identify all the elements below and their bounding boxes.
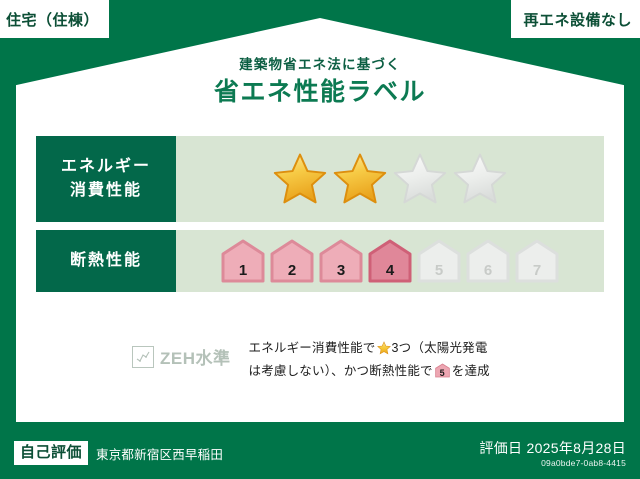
insulation-grade-number: 4 — [367, 263, 413, 279]
zeh-badge: ZEH水準 — [132, 344, 231, 369]
row-energy-label: エネルギー 消費性能 — [36, 136, 176, 222]
star-filled — [271, 151, 329, 207]
star-rating — [271, 151, 509, 207]
footer-left: 自己評価 東京都新宿区西早稲田 — [14, 441, 223, 465]
insulation-grade-scale: 1234567 — [220, 239, 560, 283]
zeh-description-line2: は考慮しない）、かつ断熱性能で 5 を達成 — [249, 361, 490, 381]
insulation-grade-number: 3 — [318, 263, 364, 279]
insulation-grade-4: 4 — [367, 239, 413, 283]
row-energy-value — [176, 136, 604, 222]
zeh-description-line1: エネルギー消費性能で 3つ（太陽光発電 — [249, 338, 490, 361]
insulation-grade-2: 2 — [269, 239, 315, 283]
star-filled — [331, 151, 389, 207]
zeh-desc-2a: は考慮しない）、かつ断熱性能で — [249, 364, 433, 378]
tag-building-type: 住宅（住棟） — [0, 0, 109, 38]
inline-grade-chip: 5 — [435, 363, 450, 378]
zeh-label: ZEH水準 — [160, 344, 231, 369]
row-energy-label-line1: エネルギー — [61, 155, 151, 179]
row-energy-consumption: エネルギー 消費性能 — [36, 136, 604, 222]
insulation-grade-7: 7 — [514, 239, 560, 283]
zeh-description: エネルギー消費性能で 3つ（太陽光発電 は考慮しない）、かつ断熱性能で — [249, 338, 490, 381]
zeh-desc-2b: を達成 — [452, 364, 490, 378]
row-energy-label-line2: 消費性能 — [70, 179, 142, 203]
insulation-grade-5: 5 — [416, 239, 462, 283]
insulation-grade-6: 6 — [465, 239, 511, 283]
zeh-section: ZEH水準 エネルギー消費性能で 3つ（太陽光発電 は考慮しない）、かつ断熱性能… — [132, 338, 490, 381]
insulation-grade-3: 3 — [318, 239, 364, 283]
tag-renewable-energy: 再エネ設備なし — [511, 0, 640, 38]
footer-right: 評価日 2025年8月28日 09a0bde7-0ab8-4415 — [479, 439, 626, 469]
evaluation-date: 評価日 2025年8月28日 — [479, 439, 626, 457]
insulation-grade-number: 6 — [465, 263, 511, 279]
row-insulation-label-line1: 断熱性能 — [70, 249, 142, 273]
energy-performance-label: 住宅（住棟） 再エネ設備なし 建築物省エネ法に基づく 省エネ性能ラベル エネルギ… — [0, 0, 640, 479]
star-empty — [391, 151, 449, 207]
row-insulation-value: 1234567 — [176, 230, 604, 292]
insulation-grade-1: 1 — [220, 239, 266, 283]
row-insulation-label: 断熱性能 — [36, 230, 176, 292]
row-insulation: 断熱性能 1234567 — [36, 230, 604, 292]
insulation-grade-number: 1 — [220, 263, 266, 279]
insulation-grade-number: 2 — [269, 263, 315, 279]
self-evaluation-badge: 自己評価 — [14, 441, 88, 465]
star-empty — [451, 151, 509, 207]
zeh-desc-1b: 3つ（太陽光発電 — [392, 341, 488, 355]
property-address: 東京都新宿区西早稲田 — [96, 444, 223, 463]
insulation-grade-number: 7 — [514, 263, 560, 279]
performance-rows: エネルギー 消費性能 断熱性能 1234567 — [36, 136, 604, 300]
inline-grade-chip-number: 5 — [435, 368, 450, 378]
label-id: 09a0bde7-0ab8-4415 — [479, 457, 626, 469]
inline-star-icon — [377, 344, 391, 358]
zeh-desc-1a: エネルギー消費性能で — [249, 341, 376, 355]
zeh-check-icon — [132, 346, 154, 368]
insulation-grade-number: 5 — [416, 263, 462, 279]
